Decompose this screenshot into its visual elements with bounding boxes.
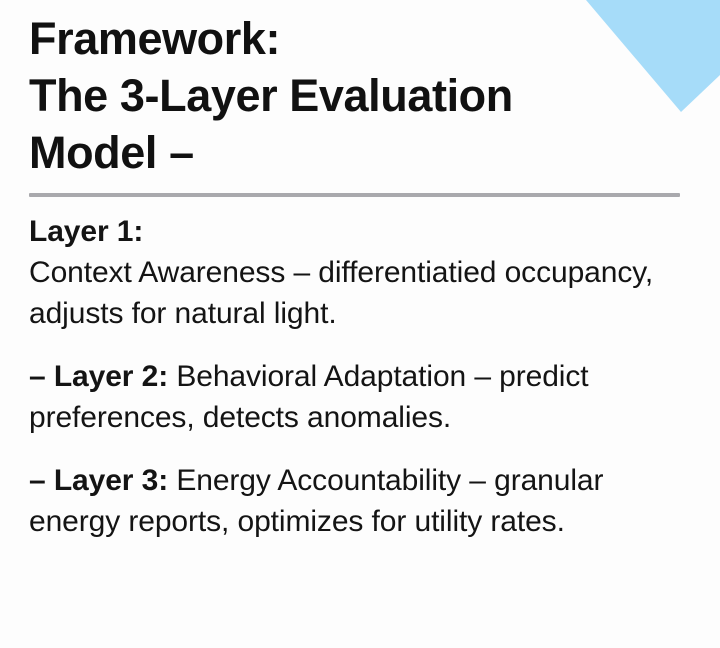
layer-item-1: Layer 1:Context Awareness – differentiat…	[29, 211, 694, 334]
title-line-1: Framework:	[29, 10, 694, 67]
slide-canvas: Framework: The 3-Layer Evaluation Model …	[0, 0, 720, 648]
layers-list: Layer 1:Context Awareness – differentiat…	[29, 211, 694, 542]
layer-item-2: – Layer 2: Behavioral Adaptation – predi…	[29, 356, 694, 438]
layer-1-text: Context Awareness – differentiatied occu…	[29, 256, 653, 330]
layer-2-lead: – Layer 2:	[29, 360, 176, 393]
title-line-2: The 3-Layer Evaluation	[29, 67, 694, 124]
title-line-3: Model –	[29, 124, 694, 181]
layer-1-lead: Layer 1:	[29, 211, 694, 252]
layer-3-lead: – Layer 3:	[29, 464, 176, 497]
slide-content: Framework: The 3-Layer Evaluation Model …	[29, 0, 694, 648]
title-divider	[29, 193, 680, 197]
page-title: Framework: The 3-Layer Evaluation Model …	[29, 0, 694, 181]
layer-item-3: – Layer 3: Energy Accountability – granu…	[29, 460, 694, 542]
